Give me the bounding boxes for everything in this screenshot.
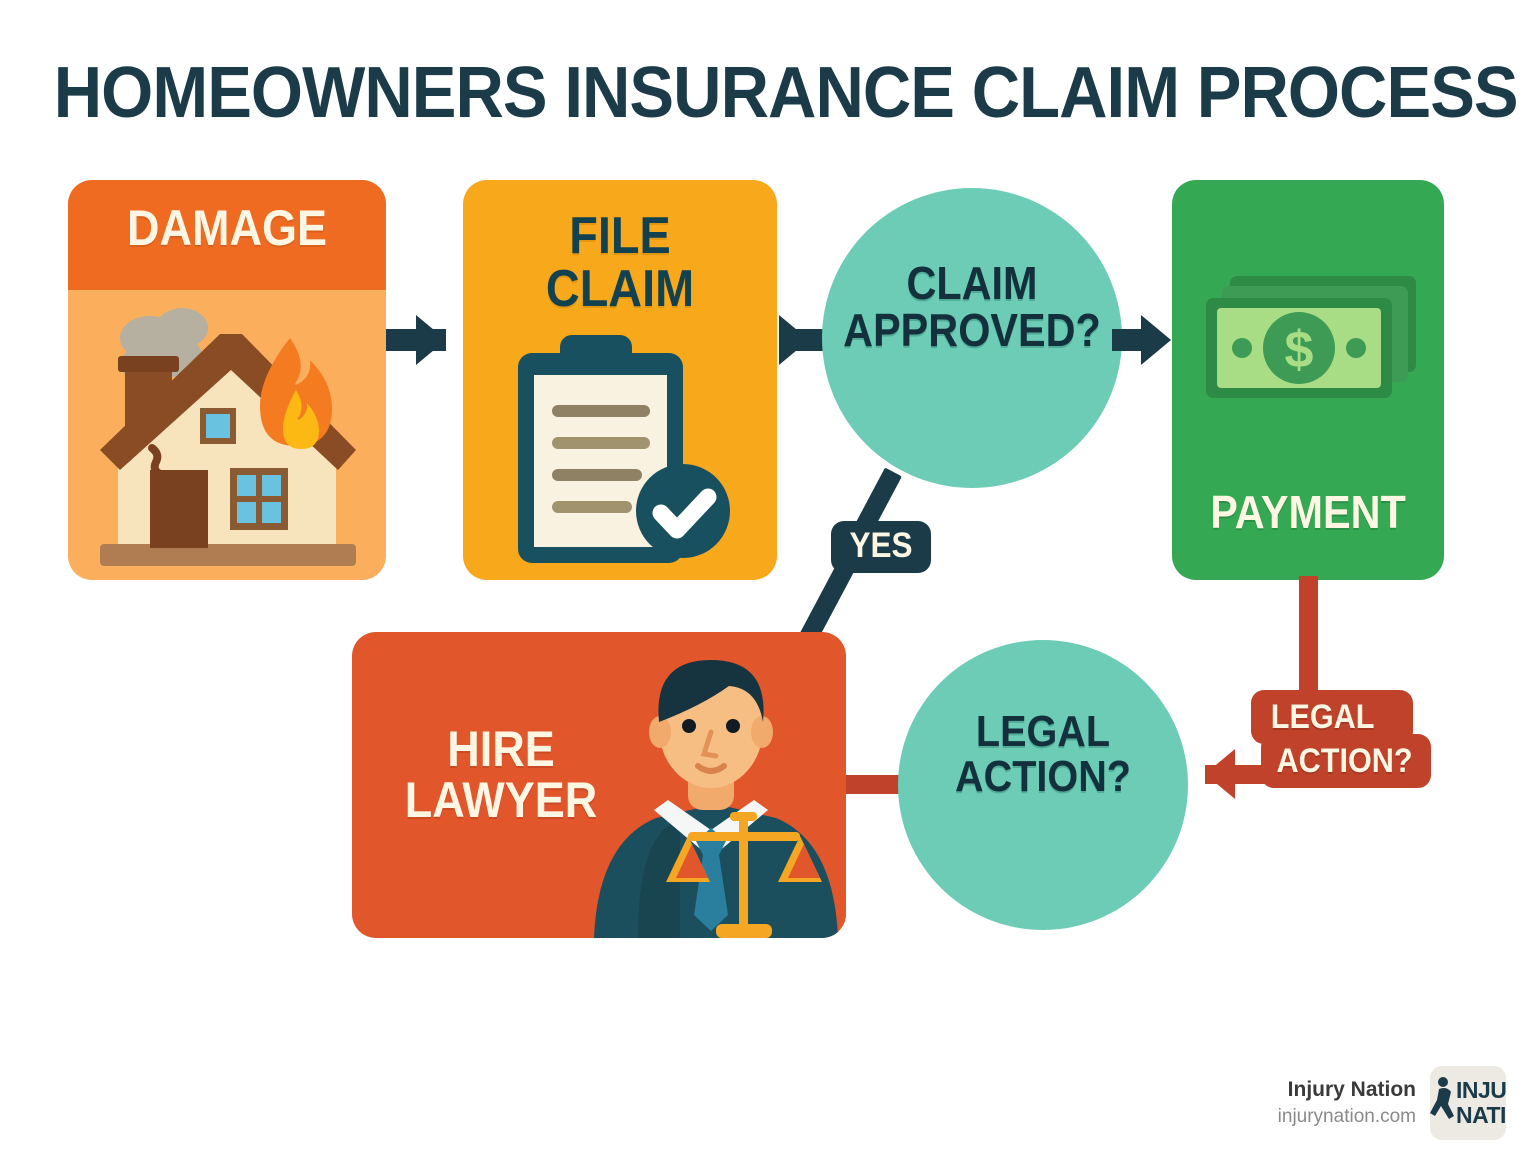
node-file-claim[interactable]: FILE CLAIM — [463, 180, 777, 580]
brand-logo: INJU NATIO — [1430, 1066, 1506, 1140]
node-payment[interactable]: $ PAYMENT — [1172, 180, 1444, 580]
node-damage-label: DAMAGE — [84, 203, 370, 254]
svg-text:$: $ — [1285, 321, 1314, 379]
node-claim-approved[interactable]: CLAIM APPROVED? — [822, 188, 1122, 488]
lawyer-scales-icon — [576, 636, 846, 938]
legal-badge-text-2: ACTION? — [1277, 742, 1413, 781]
edge-label-legal-action: LEGAL ACTION? — [1251, 690, 1431, 800]
arrow-head-1 — [416, 315, 446, 365]
arrow-head-2 — [779, 315, 809, 365]
money-bills-icon: $ — [1200, 272, 1420, 422]
logo-text: INJU NATIO — [1456, 1078, 1506, 1128]
footer-url[interactable]: injurynation.com — [1278, 1104, 1416, 1130]
edge-label-yes: YES — [831, 521, 931, 573]
node-legal-action-decision[interactable]: LEGAL ACTION? — [898, 640, 1188, 930]
logo-text-line-2: NATIO — [1456, 1103, 1506, 1128]
node-hire-lawyer[interactable]: HIRE LAWYER — [352, 632, 846, 938]
runner-figure-icon — [1430, 1077, 1454, 1119]
infographic-canvas: HOMEOWNERS INSURANCE CLAIM PROCESS DAMAG… — [0, 0, 1536, 1154]
footer-text: Injury Nation injurynation.com — [1278, 1076, 1416, 1130]
edge-payment-down — [1299, 576, 1318, 698]
node-damage[interactable]: DAMAGE — [68, 180, 386, 580]
burning-house-icon — [90, 298, 364, 570]
node-claim-approved-label: CLAIM APPROVED? — [826, 260, 1118, 354]
legal-badge-text-1: LEGAL — [1271, 698, 1375, 737]
page-title: HOMEOWNERS INSURANCE CLAIM PROCESS — [54, 52, 1482, 134]
node-file-claim-label: FILE CLAIM — [479, 210, 762, 316]
node-payment-label: PAYMENT — [1186, 489, 1431, 536]
footer-branding: Injury Nation injurynation.com INJU NATI… — [1278, 1066, 1506, 1140]
node-legal-action-label: LEGAL ACTION? — [904, 710, 1183, 800]
arrow-head-legal — [1175, 749, 1235, 799]
clipboard-check-icon — [518, 335, 753, 565]
arrow-head-3 — [1141, 315, 1171, 365]
logo-text-line-1: INJU — [1456, 1078, 1506, 1103]
footer-brand-name: Injury Nation — [1278, 1076, 1416, 1104]
edge-label-yes-text: YES — [836, 528, 926, 564]
